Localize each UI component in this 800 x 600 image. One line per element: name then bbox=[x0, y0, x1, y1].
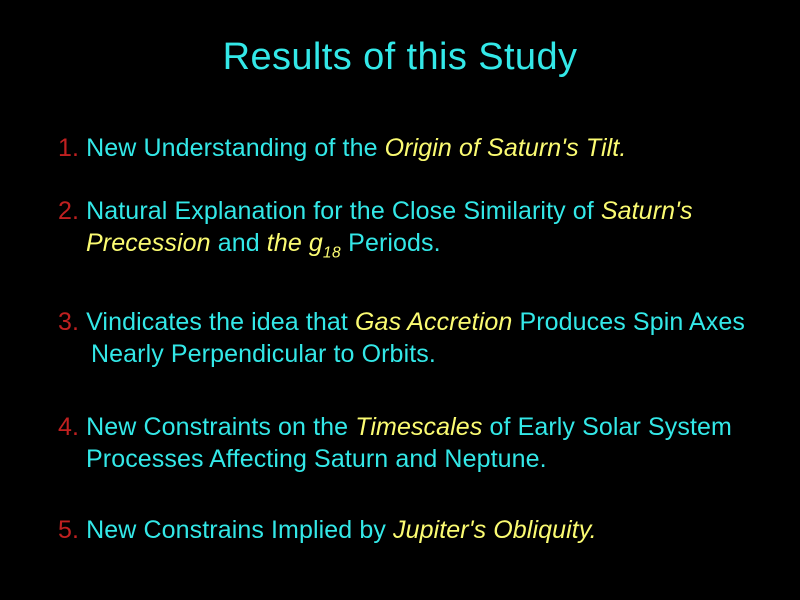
bullet-item-3: 3. Vindicates the idea that Gas Accretio… bbox=[58, 306, 778, 371]
bullet-emphasis-2-g: the g bbox=[267, 229, 323, 257]
bullet-emphasis-1: Origin of Saturn's Tilt. bbox=[385, 134, 627, 162]
bullet-marker-3: 3. bbox=[58, 308, 79, 336]
bullet-emphasis-3: Gas Accretion bbox=[355, 308, 512, 336]
slide-title: Results of this Study bbox=[0, 38, 800, 78]
bullet-text-2-part-1: Natural Explanation for the Close Simila… bbox=[79, 197, 601, 225]
bullet-item-2: 2. Natural Explanation for the Close Sim… bbox=[58, 195, 778, 264]
bullet-text-1-part-1: New Understanding of the bbox=[79, 134, 385, 162]
bullet-item-5: 5. New Constrains Implied by Jupiter's O… bbox=[58, 514, 778, 547]
bullet-item-4: 4. New Constraints on the Timescales of … bbox=[58, 411, 778, 476]
bullet-text-5-part-1: New Constrains Implied by bbox=[79, 516, 393, 544]
bullet-marker-2: 2. bbox=[58, 197, 79, 225]
bullet-text-3-part-1: Vindicates the idea that bbox=[79, 308, 355, 336]
bullet-marker-5: 5. bbox=[58, 516, 79, 544]
presentation-slide: Results of this Study 1. New Understandi… bbox=[0, 0, 800, 600]
bullet-text-4-part-1: New Constraints on the bbox=[79, 413, 355, 441]
bullet-item-1: 1. New Understanding of the Origin of Sa… bbox=[58, 132, 778, 165]
bullet-marker-4: 4. bbox=[58, 413, 79, 441]
bullet-emphasis-4: Timescales bbox=[355, 413, 482, 441]
bullet-marker-1: 1. bbox=[58, 134, 79, 162]
bullet-subscript-2-18: 18 bbox=[323, 245, 341, 262]
bullet-list: 1. New Understanding of the Origin of Sa… bbox=[58, 132, 778, 546]
bullet-text-2-part-3: Periods. bbox=[341, 229, 441, 257]
bullet-text-2-part-2: and bbox=[211, 229, 267, 257]
bullet-emphasis-5: Jupiter's Obliquity. bbox=[393, 516, 597, 544]
